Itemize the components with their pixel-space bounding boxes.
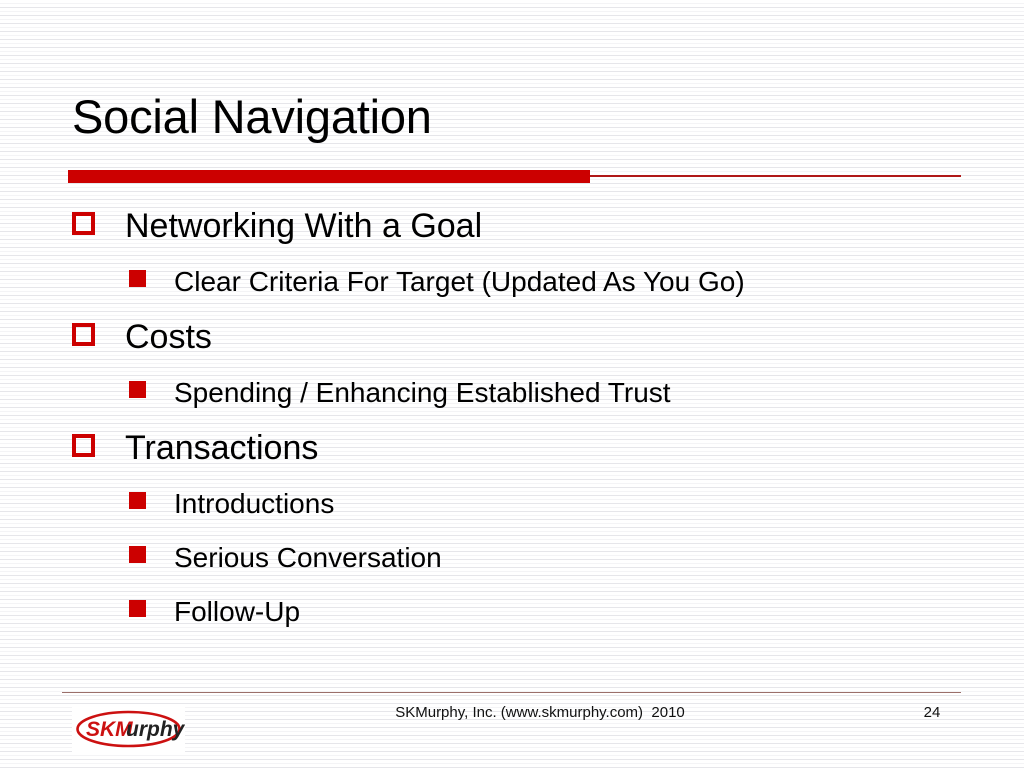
footer-divider	[62, 692, 961, 693]
slide-footer: SKM urphy SKMurphy, Inc. (www.skmurphy.c…	[62, 699, 961, 757]
filled-square-bullet-icon	[129, 482, 174, 509]
list-item-label: Follow-Up	[174, 590, 300, 633]
list-item: Spending / Enhancing Established Trust	[72, 371, 972, 425]
list-item: Networking With a Goal	[72, 203, 972, 260]
slide-canvas: Social Navigation Networking With a Goal…	[0, 0, 1024, 768]
page-number: 24	[902, 704, 962, 721]
hollow-square-bullet-icon	[72, 203, 125, 235]
list-item: Clear Criteria For Target (Updated As Yo…	[72, 260, 972, 314]
filled-square-bullet-icon	[129, 260, 174, 287]
filled-square-bullet-icon	[129, 590, 174, 617]
list-item-label: Costs	[125, 314, 212, 361]
bullet-list: Networking With a Goal Clear Criteria Fo…	[72, 203, 972, 644]
list-item: Serious Conversation	[72, 536, 972, 590]
list-item-label: Introductions	[174, 482, 334, 525]
list-item-label: Networking With a Goal	[125, 203, 482, 250]
page-title: Social Navigation	[72, 92, 962, 142]
filled-square-bullet-icon	[129, 536, 174, 563]
list-item: Follow-Up	[72, 590, 972, 644]
title-underline	[68, 170, 961, 184]
list-item-label: Transactions	[125, 425, 318, 472]
list-item: Transactions	[72, 425, 972, 482]
title-block: Social Navigation	[72, 92, 962, 142]
hollow-square-bullet-icon	[72, 425, 125, 457]
list-item: Introductions	[72, 482, 972, 536]
svg-text:urphy: urphy	[126, 718, 185, 741]
title-thick-bar	[68, 170, 590, 183]
footer-credit: SKMurphy, Inc. (www.skmurphy.com) 2010	[330, 704, 750, 721]
list-item: Costs	[72, 314, 972, 371]
list-item-label: Clear Criteria For Target (Updated As Yo…	[174, 260, 745, 303]
hollow-square-bullet-icon	[72, 314, 125, 346]
filled-square-bullet-icon	[129, 371, 174, 398]
list-item-label: Serious Conversation	[174, 536, 442, 579]
list-item-label: Spending / Enhancing Established Trust	[174, 371, 671, 414]
skmurphy-logo: SKM urphy	[72, 705, 185, 753]
